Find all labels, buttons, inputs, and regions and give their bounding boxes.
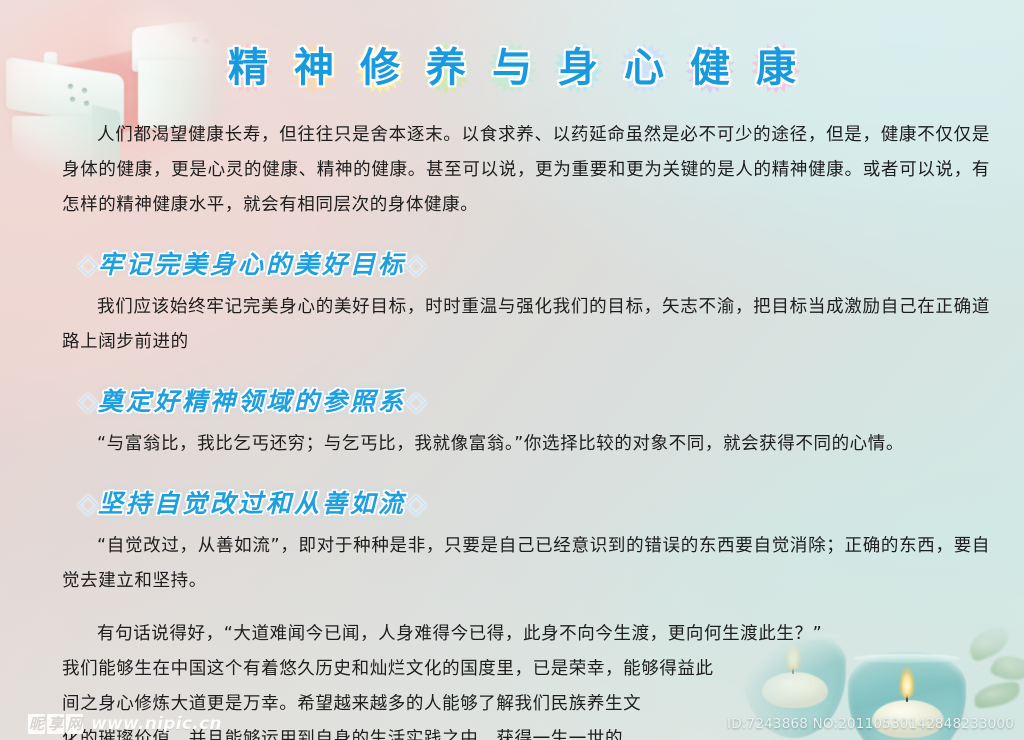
closing-line-1: 我们能够生在中国这个有着悠久历史和灿烂文化的国度里，已是荣幸，能够得益此 (62, 652, 990, 687)
diamond-right-icon: ◇ (406, 250, 426, 280)
watermark: 昵 享 网 www.nipic.cn (28, 714, 222, 734)
section-heading-1: ◇牢记完美身心的美好目标◇ (78, 245, 426, 285)
spacer (0, 223, 1024, 233)
watermark-logo-char-0: 昵 (28, 714, 45, 734)
poster-content: 人们都渴望健康长寿，但往往只是舍本逐末。以食求养、以药延命虽然是必不可少的途径，… (0, 118, 1024, 740)
diamond-left-icon: ◇ (78, 489, 98, 519)
title-char-8: 康 (748, 40, 804, 96)
intro-paragraph: 人们都渴望健康长寿，但往往只是舍本逐末。以食求养、以药延命虽然是必不可少的途径，… (62, 118, 990, 223)
watermark-id-text: ID:7243868 NO:20110530142848233000 (727, 716, 1014, 732)
diamond-left-icon: ◇ (78, 387, 98, 417)
title-char-0: 精 (220, 40, 276, 96)
section-body-1: 我们应该始终牢记完美身心的美好目标，时时重温与强化我们的目标，矢志不渝，把目标当… (62, 290, 990, 360)
spacer (0, 462, 1024, 472)
title-glyph: 养 (426, 48, 466, 88)
poster-canvas: 精 神 修 养 与 (0, 0, 1024, 740)
diamond-right-icon: ◇ (406, 387, 426, 417)
watermark-logo-char-1: 享 (47, 714, 64, 734)
title-char-1: 神 (286, 40, 342, 96)
section-3-heading-row: ◇坚持自觉改过和从善如流◇ (0, 472, 1024, 529)
title-char-5: 身 (550, 40, 606, 96)
title-char-6: 心 (616, 40, 672, 96)
section-heading-3: ◇坚持自觉改过和从善如流◇ (78, 484, 426, 524)
watermark-logo: 昵 享 网 (28, 714, 83, 734)
watermark-url: www.nipic.cn (91, 714, 222, 734)
section-heading-2: ◇奠定好精神领域的参照系◇ (78, 382, 426, 422)
title-glyph: 健 (690, 48, 730, 88)
section-heading-2-text: 奠定好精神领域的参照系 (98, 387, 406, 416)
title-char-7: 健 (682, 40, 738, 96)
title-glyph: 精 (228, 48, 268, 88)
title-glyph: 神 (294, 48, 334, 88)
diamond-left-icon: ◇ (78, 250, 98, 280)
section-1-heading-row: ◇牢记完美身心的美好目标◇ (0, 233, 1024, 290)
title-glyph: 与 (492, 48, 532, 88)
section-heading-1-text: 牢记完美身心的美好目标 (98, 250, 406, 279)
poster-title: 精 神 修 养 与 (0, 40, 1024, 96)
watermark-logo-char-2: 网 (66, 714, 83, 734)
title-glyph: 康 (756, 48, 796, 88)
title-glyph: 身 (558, 48, 598, 88)
section-2-heading-row: ◇奠定好精神领域的参照系◇ (0, 370, 1024, 427)
title-glyph: 心 (624, 48, 664, 88)
closing-line-0: 有句话说得好，“大道难闻今已闻，人身难得今已得，此身不向今生渡，更向何生渡此生？… (62, 617, 990, 652)
title-char-4: 与 (484, 40, 540, 96)
spacer (0, 360, 1024, 370)
section-heading-3-text: 坚持自觉改过和从善如流 (98, 489, 406, 518)
section-body-2: “与富翁比，我比乞丐还穷；与乞丐比，我就像富翁。”你选择比较的对象不同，就会获得… (62, 427, 990, 462)
spacer (0, 599, 1024, 617)
title-char-2: 修 (352, 40, 408, 96)
diamond-right-icon: ◇ (406, 489, 426, 519)
section-body-3: “自觉改过，从善如流”，即对于种种是非，只要是自己已经意识到的错误的东西要自觉消… (62, 529, 990, 599)
title-char-3: 养 (418, 40, 474, 96)
title-glyph: 修 (360, 48, 400, 88)
